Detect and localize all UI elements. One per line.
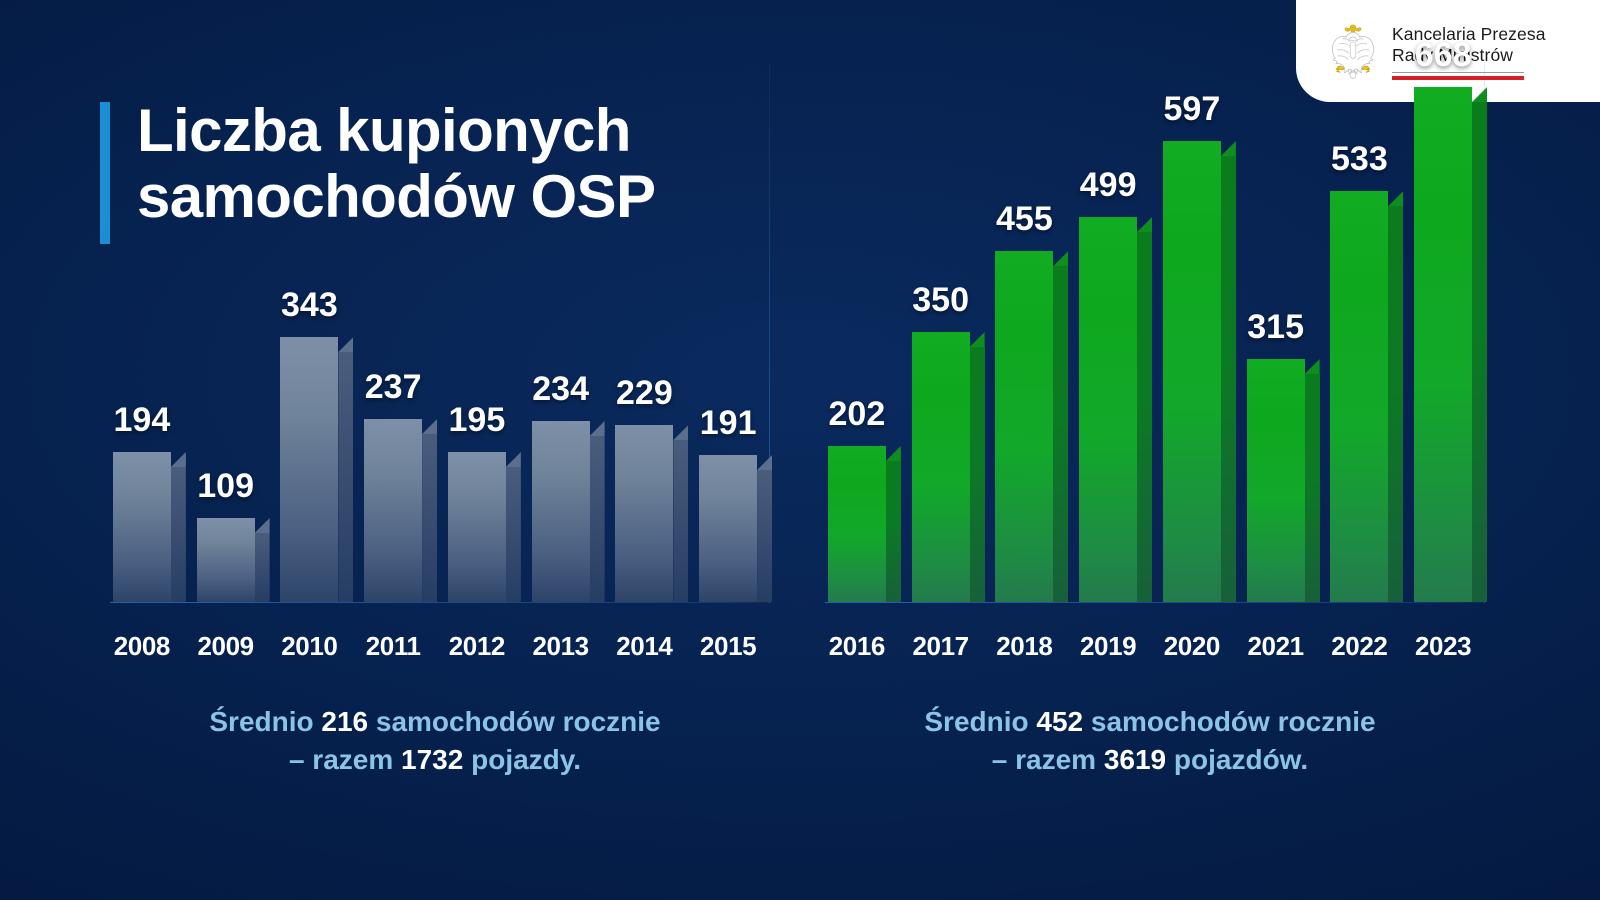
right-chart-caption: Średnio 452 samochodów rocznie – razem 3… <box>815 703 1485 780</box>
bar-side-face <box>757 470 772 602</box>
bar-top-face <box>506 452 521 467</box>
bar-value-label: 194 <box>114 401 171 440</box>
right-caption-average: 452 <box>1036 706 1083 737</box>
bar-top-face <box>590 421 605 436</box>
year-label-2015: 2015 <box>686 631 770 662</box>
bar-2009[interactable]: 109 <box>197 518 255 602</box>
bar-value-label: 109 <box>197 467 254 506</box>
bar-top-face <box>886 446 901 461</box>
year-label-2012: 2012 <box>435 631 519 662</box>
left-caption-mid: samochodów rocznie <box>368 706 661 737</box>
bar-value-label: 499 <box>1080 166 1137 205</box>
year-label-2020: 2020 <box>1150 631 1234 662</box>
bar-front-face <box>615 425 673 602</box>
right-chart-x-axis-labels: 20162017201820192020202120222023 <box>815 631 1485 662</box>
year-label-2022: 2022 <box>1318 631 1402 662</box>
bar-side-face <box>506 467 521 602</box>
bar-front-face <box>532 421 590 602</box>
bar-front-face <box>1414 87 1472 602</box>
bar-2012[interactable]: 195 <box>448 452 506 602</box>
bar-2021[interactable]: 315 <box>1247 359 1305 602</box>
bar-top-face <box>171 452 186 467</box>
bar-2010[interactable]: 343 <box>280 337 338 602</box>
bar-value-label: 234 <box>532 370 589 409</box>
bar-slot[interactable]: 533 <box>1318 62 1402 602</box>
bar-top-face <box>1137 217 1152 232</box>
year-label-2011: 2011 <box>351 631 435 662</box>
year-label-2016: 2016 <box>815 631 899 662</box>
year-label-2018: 2018 <box>983 631 1067 662</box>
bar-top-face <box>673 425 688 440</box>
bar-slot[interactable]: 194 <box>100 62 184 602</box>
bar-top-face <box>1053 251 1068 266</box>
bar-2011[interactable]: 237 <box>364 419 422 602</box>
bar-2023[interactable]: 668 <box>1414 87 1472 602</box>
year-label-2019: 2019 <box>1066 631 1150 662</box>
bar-value-label: 237 <box>365 368 422 407</box>
bar-side-face <box>1305 374 1320 602</box>
bar-slot[interactable]: 350 <box>899 62 983 602</box>
bar-top-face <box>1305 359 1320 374</box>
bar-2016[interactable]: 202 <box>828 446 886 602</box>
bar-side-face <box>970 347 985 602</box>
bar-front-face <box>1163 141 1221 602</box>
bar-side-face <box>1472 102 1487 602</box>
bar-value-label: 533 <box>1331 140 1388 179</box>
bar-front-face <box>113 452 171 602</box>
right-caption-line-2: – razem 3619 pojazdów. <box>815 741 1485 780</box>
bar-top-face <box>422 419 437 434</box>
right-caption-total-post: pojazdów. <box>1166 744 1308 775</box>
bar-side-face <box>422 434 437 602</box>
bar-value-label: 195 <box>449 401 506 440</box>
infographic-slide: Kancelaria Prezesa Rady Ministrów Liczba… <box>0 0 1600 900</box>
right-caption-total-pre: – razem <box>992 744 1104 775</box>
year-label-2010: 2010 <box>268 631 352 662</box>
charts-container: 194109343237195234229191 200820092010201… <box>0 0 1600 900</box>
bar-front-face <box>828 446 886 602</box>
left-caption-pre: Średnio <box>209 706 321 737</box>
year-label-2021: 2021 <box>1234 631 1318 662</box>
bar-slot[interactable]: 234 <box>519 62 603 602</box>
year-label-2014: 2014 <box>603 631 687 662</box>
left-caption-average: 216 <box>321 706 368 737</box>
left-chart-panel: 194109343237195234229191 200820092010201… <box>100 130 770 830</box>
bar-2017[interactable]: 350 <box>912 332 970 602</box>
bar-2008[interactable]: 194 <box>113 452 171 602</box>
bar-front-face <box>1079 217 1137 602</box>
right-caption-mid: samochodów rocznie <box>1083 706 1376 737</box>
year-label-2009: 2009 <box>184 631 268 662</box>
bar-value-label: 229 <box>616 374 673 413</box>
left-caption-total-post: pojazdy. <box>463 744 581 775</box>
left-chart-x-axis-labels: 20082009201020112012201320142015 <box>100 631 770 662</box>
bar-top-face <box>1472 87 1487 102</box>
bar-value-label: 343 <box>281 286 338 325</box>
bar-slot[interactable]: 191 <box>686 62 770 602</box>
bar-top-face <box>970 332 985 347</box>
bar-top-face <box>338 337 353 352</box>
bar-side-face <box>338 352 353 602</box>
right-caption-line-1: Średnio 452 samochodów rocznie <box>815 703 1485 742</box>
bar-side-face <box>1053 266 1068 602</box>
bar-2013[interactable]: 234 <box>532 421 590 602</box>
bar-front-face <box>364 419 422 602</box>
right-chart-panel: 202350455499597315533668 201620172018201… <box>815 130 1485 830</box>
bar-slot[interactable]: 668 <box>1401 62 1485 602</box>
bar-front-face <box>448 452 506 602</box>
bar-front-face <box>912 332 970 602</box>
bar-side-face <box>1221 156 1236 602</box>
bar-front-face <box>699 455 757 602</box>
bar-value-label: 668 <box>1415 36 1472 75</box>
bar-top-face <box>255 518 270 533</box>
bar-top-face <box>757 455 772 470</box>
right-caption-total: 3619 <box>1104 744 1166 775</box>
bar-slot[interactable]: 195 <box>435 62 519 602</box>
bar-side-face <box>171 467 186 602</box>
bar-value-label: 315 <box>1247 308 1304 347</box>
bar-top-face <box>1221 141 1236 156</box>
bar-value-label: 191 <box>700 404 757 443</box>
bar-front-face <box>995 251 1053 602</box>
bar-side-face <box>673 440 688 602</box>
bar-value-label: 350 <box>912 281 969 320</box>
bar-slot[interactable]: 229 <box>603 62 687 602</box>
year-label-2008: 2008 <box>100 631 184 662</box>
bar-side-face <box>1137 232 1152 602</box>
left-chart-caption: Średnio 216 samochodów rocznie – razem 1… <box>100 703 770 780</box>
bar-2015[interactable]: 191 <box>699 455 757 602</box>
right-chart-plot-area: 202350455499597315533668 <box>815 62 1485 602</box>
bar-2022[interactable]: 533 <box>1330 191 1388 602</box>
bar-side-face <box>886 461 901 602</box>
year-label-2023: 2023 <box>1401 631 1485 662</box>
bar-slot[interactable]: 455 <box>983 62 1067 602</box>
bar-slot[interactable]: 237 <box>351 62 435 602</box>
bar-value-label: 202 <box>829 395 886 434</box>
left-caption-line-1: Średnio 216 samochodów rocznie <box>100 703 770 742</box>
left-chart-plot-area: 194109343237195234229191 <box>100 62 770 602</box>
bar-value-label: 455 <box>996 200 1053 239</box>
bar-front-face <box>280 337 338 602</box>
bar-value-label: 597 <box>1164 90 1221 129</box>
bar-slot[interactable]: 315 <box>1234 62 1318 602</box>
bar-front-face <box>1247 359 1305 602</box>
right-caption-pre: Średnio <box>924 706 1036 737</box>
bar-2019[interactable]: 499 <box>1079 217 1137 602</box>
bar-side-face <box>590 436 605 602</box>
year-label-2017: 2017 <box>899 631 983 662</box>
bar-2020[interactable]: 597 <box>1163 141 1221 602</box>
bar-side-face <box>1388 206 1403 602</box>
bar-slot[interactable]: 597 <box>1150 62 1234 602</box>
bar-slot[interactable]: 202 <box>815 62 899 602</box>
bar-2014[interactable]: 229 <box>615 425 673 602</box>
left-caption-line-2: – razem 1732 pojazdy. <box>100 741 770 780</box>
bar-slot[interactable]: 109 <box>184 62 268 602</box>
left-caption-total: 1732 <box>401 744 463 775</box>
bar-side-face <box>255 533 270 602</box>
bar-slot[interactable]: 343 <box>268 62 352 602</box>
bar-top-face <box>1388 191 1403 206</box>
bar-front-face <box>197 518 255 602</box>
bar-2018[interactable]: 455 <box>995 251 1053 602</box>
bar-slot[interactable]: 499 <box>1066 62 1150 602</box>
year-label-2013: 2013 <box>519 631 603 662</box>
bar-front-face <box>1330 191 1388 602</box>
left-caption-total-pre: – razem <box>289 744 401 775</box>
